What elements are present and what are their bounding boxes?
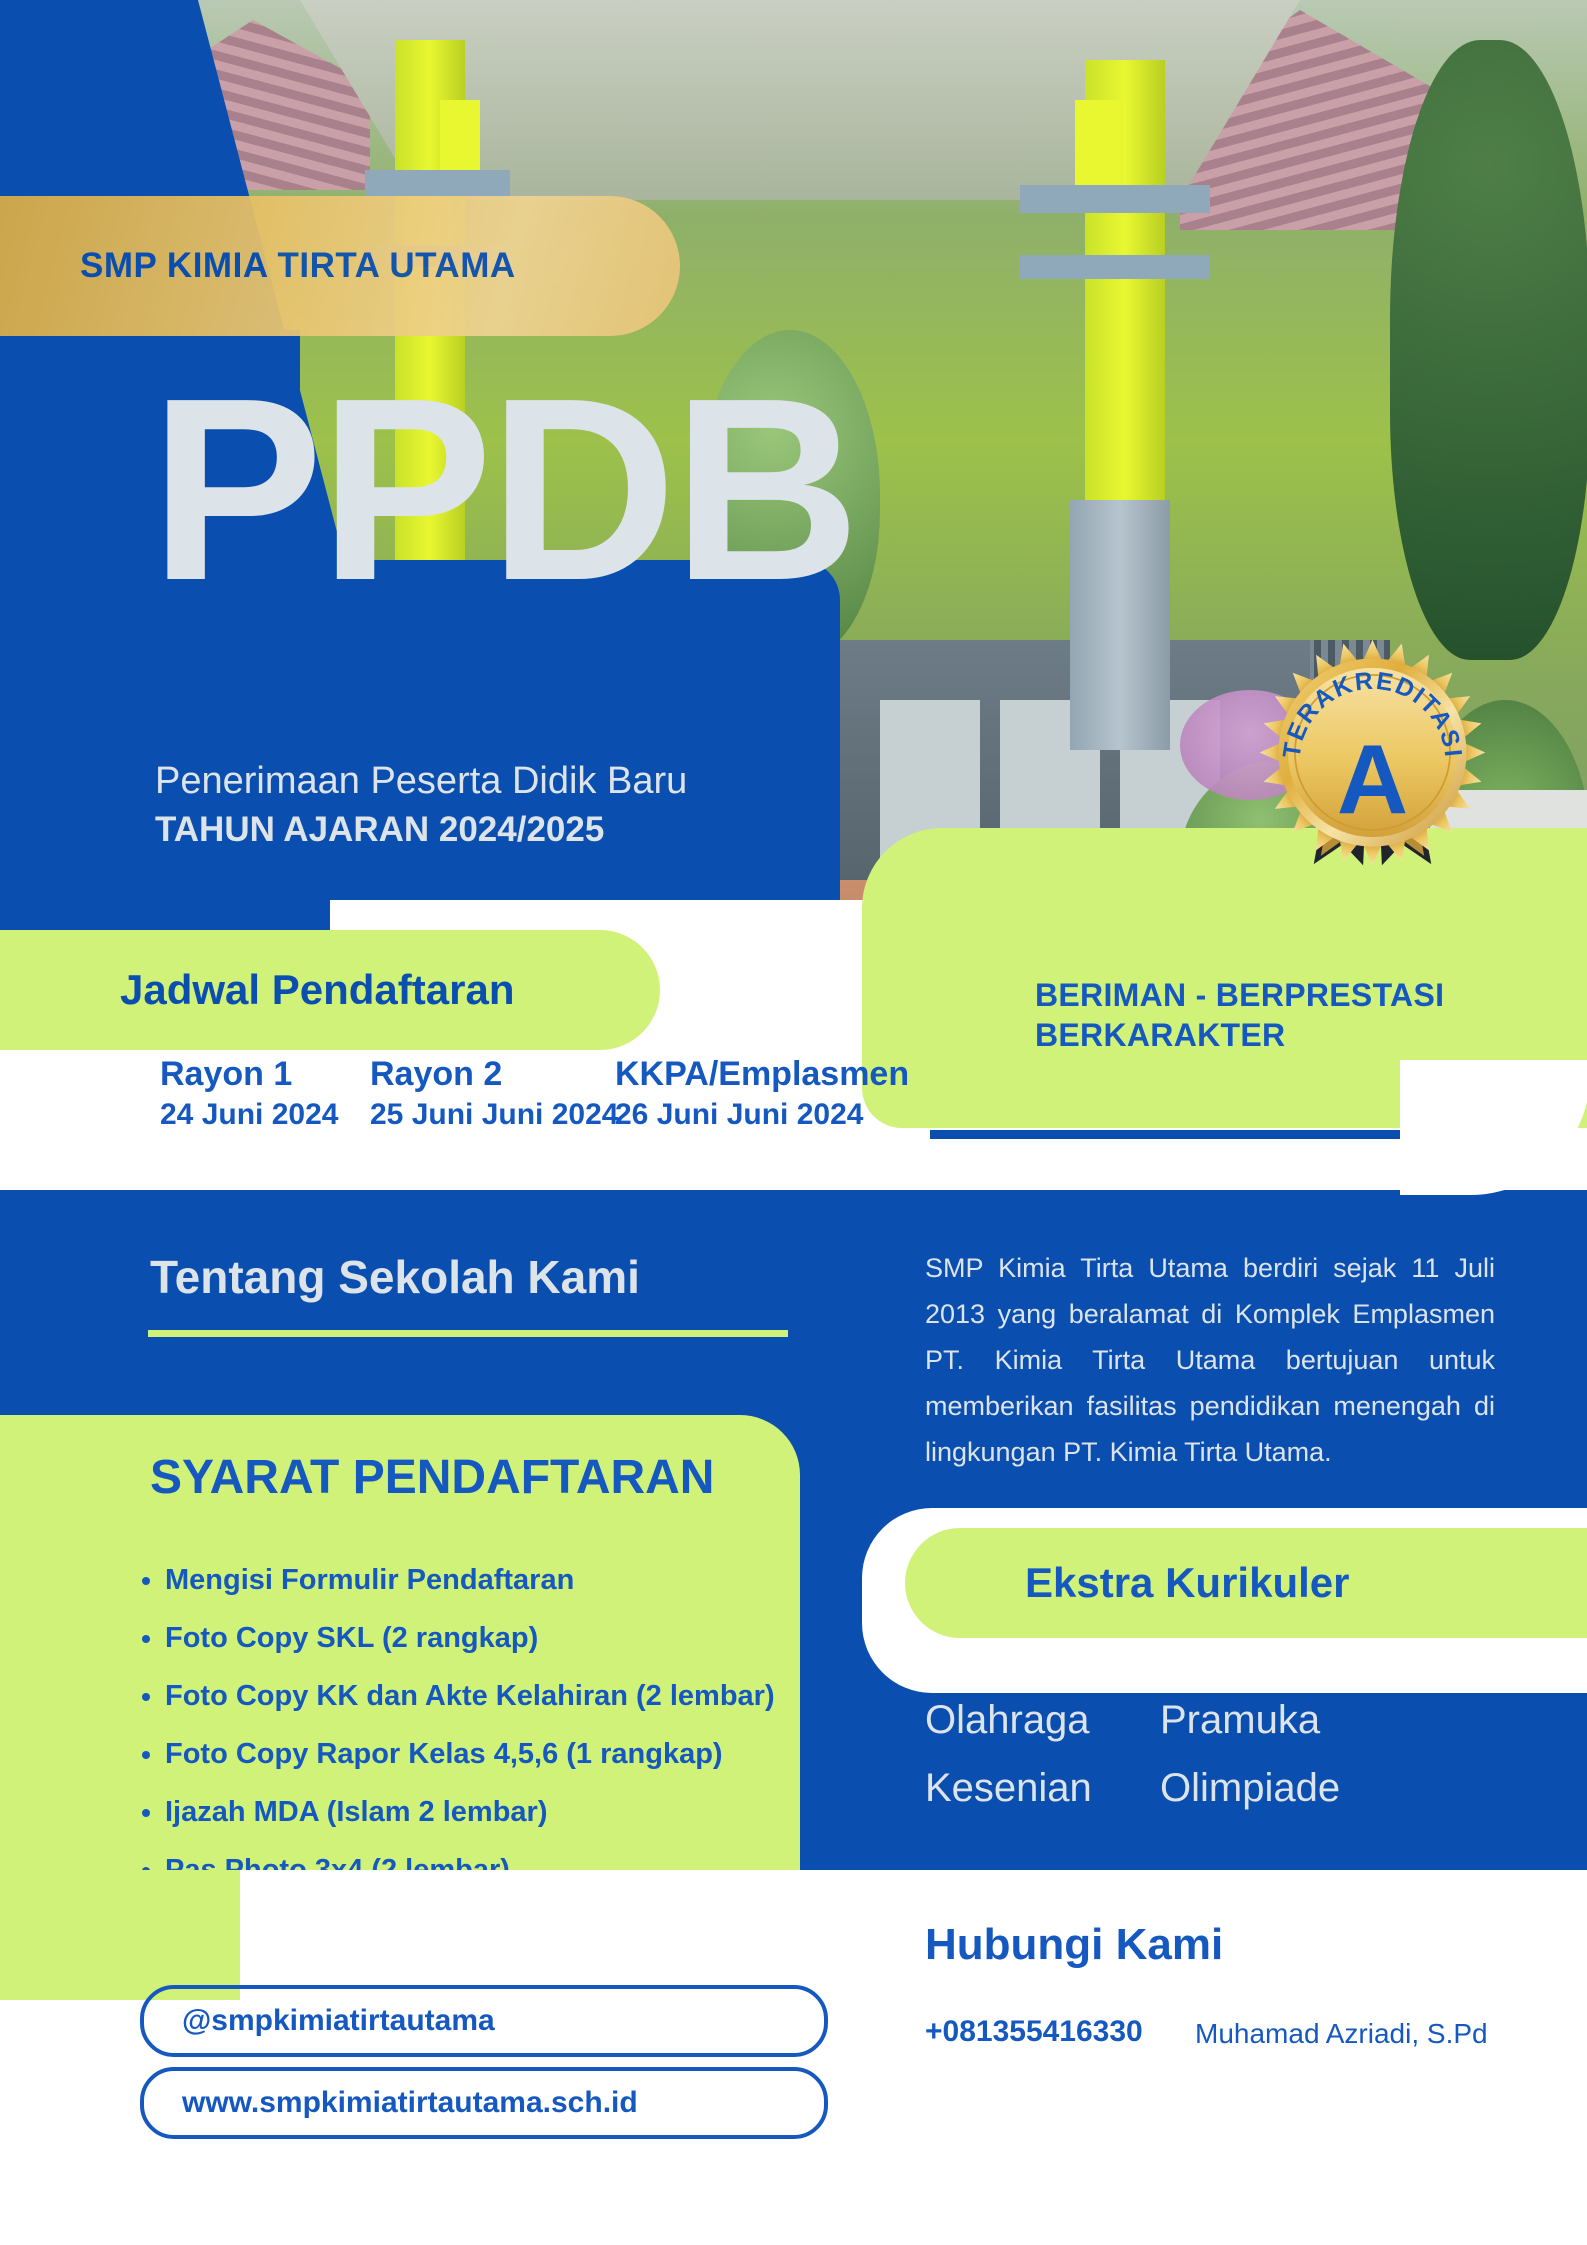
extracurricular-heading: Ekstra Kurikuler <box>1025 1559 1349 1607</box>
schedule-heading: Jadwal Pendaftaran <box>120 966 514 1014</box>
photo-band-b2 <box>1020 255 1210 279</box>
website-button[interactable]: www.smpkimiatirtautama.sch.id <box>140 2067 828 2139</box>
list-item: Pramuka <box>1160 1690 1485 1750</box>
list-item: Olahraga <box>925 1690 1160 1750</box>
schedule-entry-label: KKPA/Emplasmen <box>615 1055 909 1094</box>
svg-text:A: A <box>1337 725 1408 835</box>
motto-line-2: BERKARAKTER <box>1035 1015 1444 1055</box>
instagram-button[interactable]: @smpkimiatirtautama <box>140 1985 828 2057</box>
schedule-entry-date: 26 Juni Juni 2024 <box>615 1098 909 1132</box>
about-divider <box>148 1330 788 1337</box>
requirements-heading: SYARAT PENDAFTARAN <box>150 1450 714 1505</box>
schedule-entry-label: Rayon 2 <box>370 1055 618 1094</box>
page-title: PPDB <box>150 375 856 605</box>
extracurricular-heading-pill: Ekstra Kurikuler <box>905 1528 1587 1638</box>
photo-band-a1 <box>365 170 510 196</box>
bottom-green-tail <box>0 1870 240 2000</box>
list-item: Foto Copy Rapor Kelas 4,5,6 (1 rangkap) <box>165 1729 815 1779</box>
ppdb-poster: SMP KIMIA TIRTA UTAMA PPDB Penerimaan Pe… <box>0 0 1587 2245</box>
list-item: Olimpiade <box>1160 1758 1485 1818</box>
school-motto: BERIMAN - BERPRESTASI BERKARAKTER <box>1035 975 1444 1055</box>
instagram-handle: @smpkimiatirtautama <box>182 2004 495 2038</box>
schedule-entry-label: Rayon 1 <box>160 1055 338 1094</box>
accreditation-badge: TERAKREDITASI A <box>1255 635 1490 870</box>
photo-band-b1 <box>1020 185 1210 213</box>
page-subtitle: Penerimaan Peserta Didik Baru <box>155 760 687 803</box>
schedule-heading-pill: Jadwal Pendaftaran <box>0 930 660 1050</box>
list-item: Kesenian <box>925 1758 1160 1818</box>
contact-person: Muhamad Azriadi, S.Pd <box>1195 2018 1488 2050</box>
photo-pedestal <box>1070 500 1170 750</box>
website-url: www.smpkimiatirtautama.sch.id <box>182 2086 638 2120</box>
contact-phone[interactable]: +081355416330 <box>925 2015 1143 2049</box>
list-item: Foto Copy SKL (2 rangkap) <box>165 1613 815 1663</box>
about-heading: Tentang Sekolah Kami <box>150 1250 640 1304</box>
school-name-ribbon: SMP KIMIA TIRTA UTAMA <box>0 196 680 336</box>
list-item: Ijazah MDA (Islam 2 lembar) <box>165 1787 815 1837</box>
motto-divider <box>930 1130 1475 1139</box>
school-name: SMP KIMIA TIRTA UTAMA <box>80 246 516 286</box>
list-item: Mengisi Formulir Pendaftaran <box>165 1555 815 1605</box>
schedule-entry-date: 24 Juni 2024 <box>160 1098 338 1132</box>
photo-column-cap-left <box>440 100 480 180</box>
schedule-entry-kkpa: KKPA/Emplasmen 26 Juni Juni 2024 <box>615 1055 909 1132</box>
schedule-entry-date: 25 Juni Juni 2024 <box>370 1098 618 1132</box>
schedule-entry-rayon-1: Rayon 1 24 Juni 2024 <box>160 1055 338 1132</box>
extracurricular-list: Olahraga Pramuka Kesenian Olimpiade <box>925 1690 1485 1818</box>
academic-year: TAHUN AJARAN 2024/2025 <box>155 810 604 850</box>
photo-plant-2 <box>1390 40 1587 660</box>
list-item: Foto Copy KK dan Akte Kelahiran (2 lemba… <box>165 1671 815 1721</box>
contact-heading: Hubungi Kami <box>925 1920 1223 1970</box>
photo-column-cap-right <box>1075 100 1121 190</box>
motto-line-1: BERIMAN - BERPRESTASI <box>1035 975 1444 1015</box>
schedule-entry-rayon-2: Rayon 2 25 Juni Juni 2024 <box>370 1055 618 1132</box>
about-body: SMP Kimia Tirta Utama berdiri sejak 11 J… <box>925 1245 1495 1475</box>
